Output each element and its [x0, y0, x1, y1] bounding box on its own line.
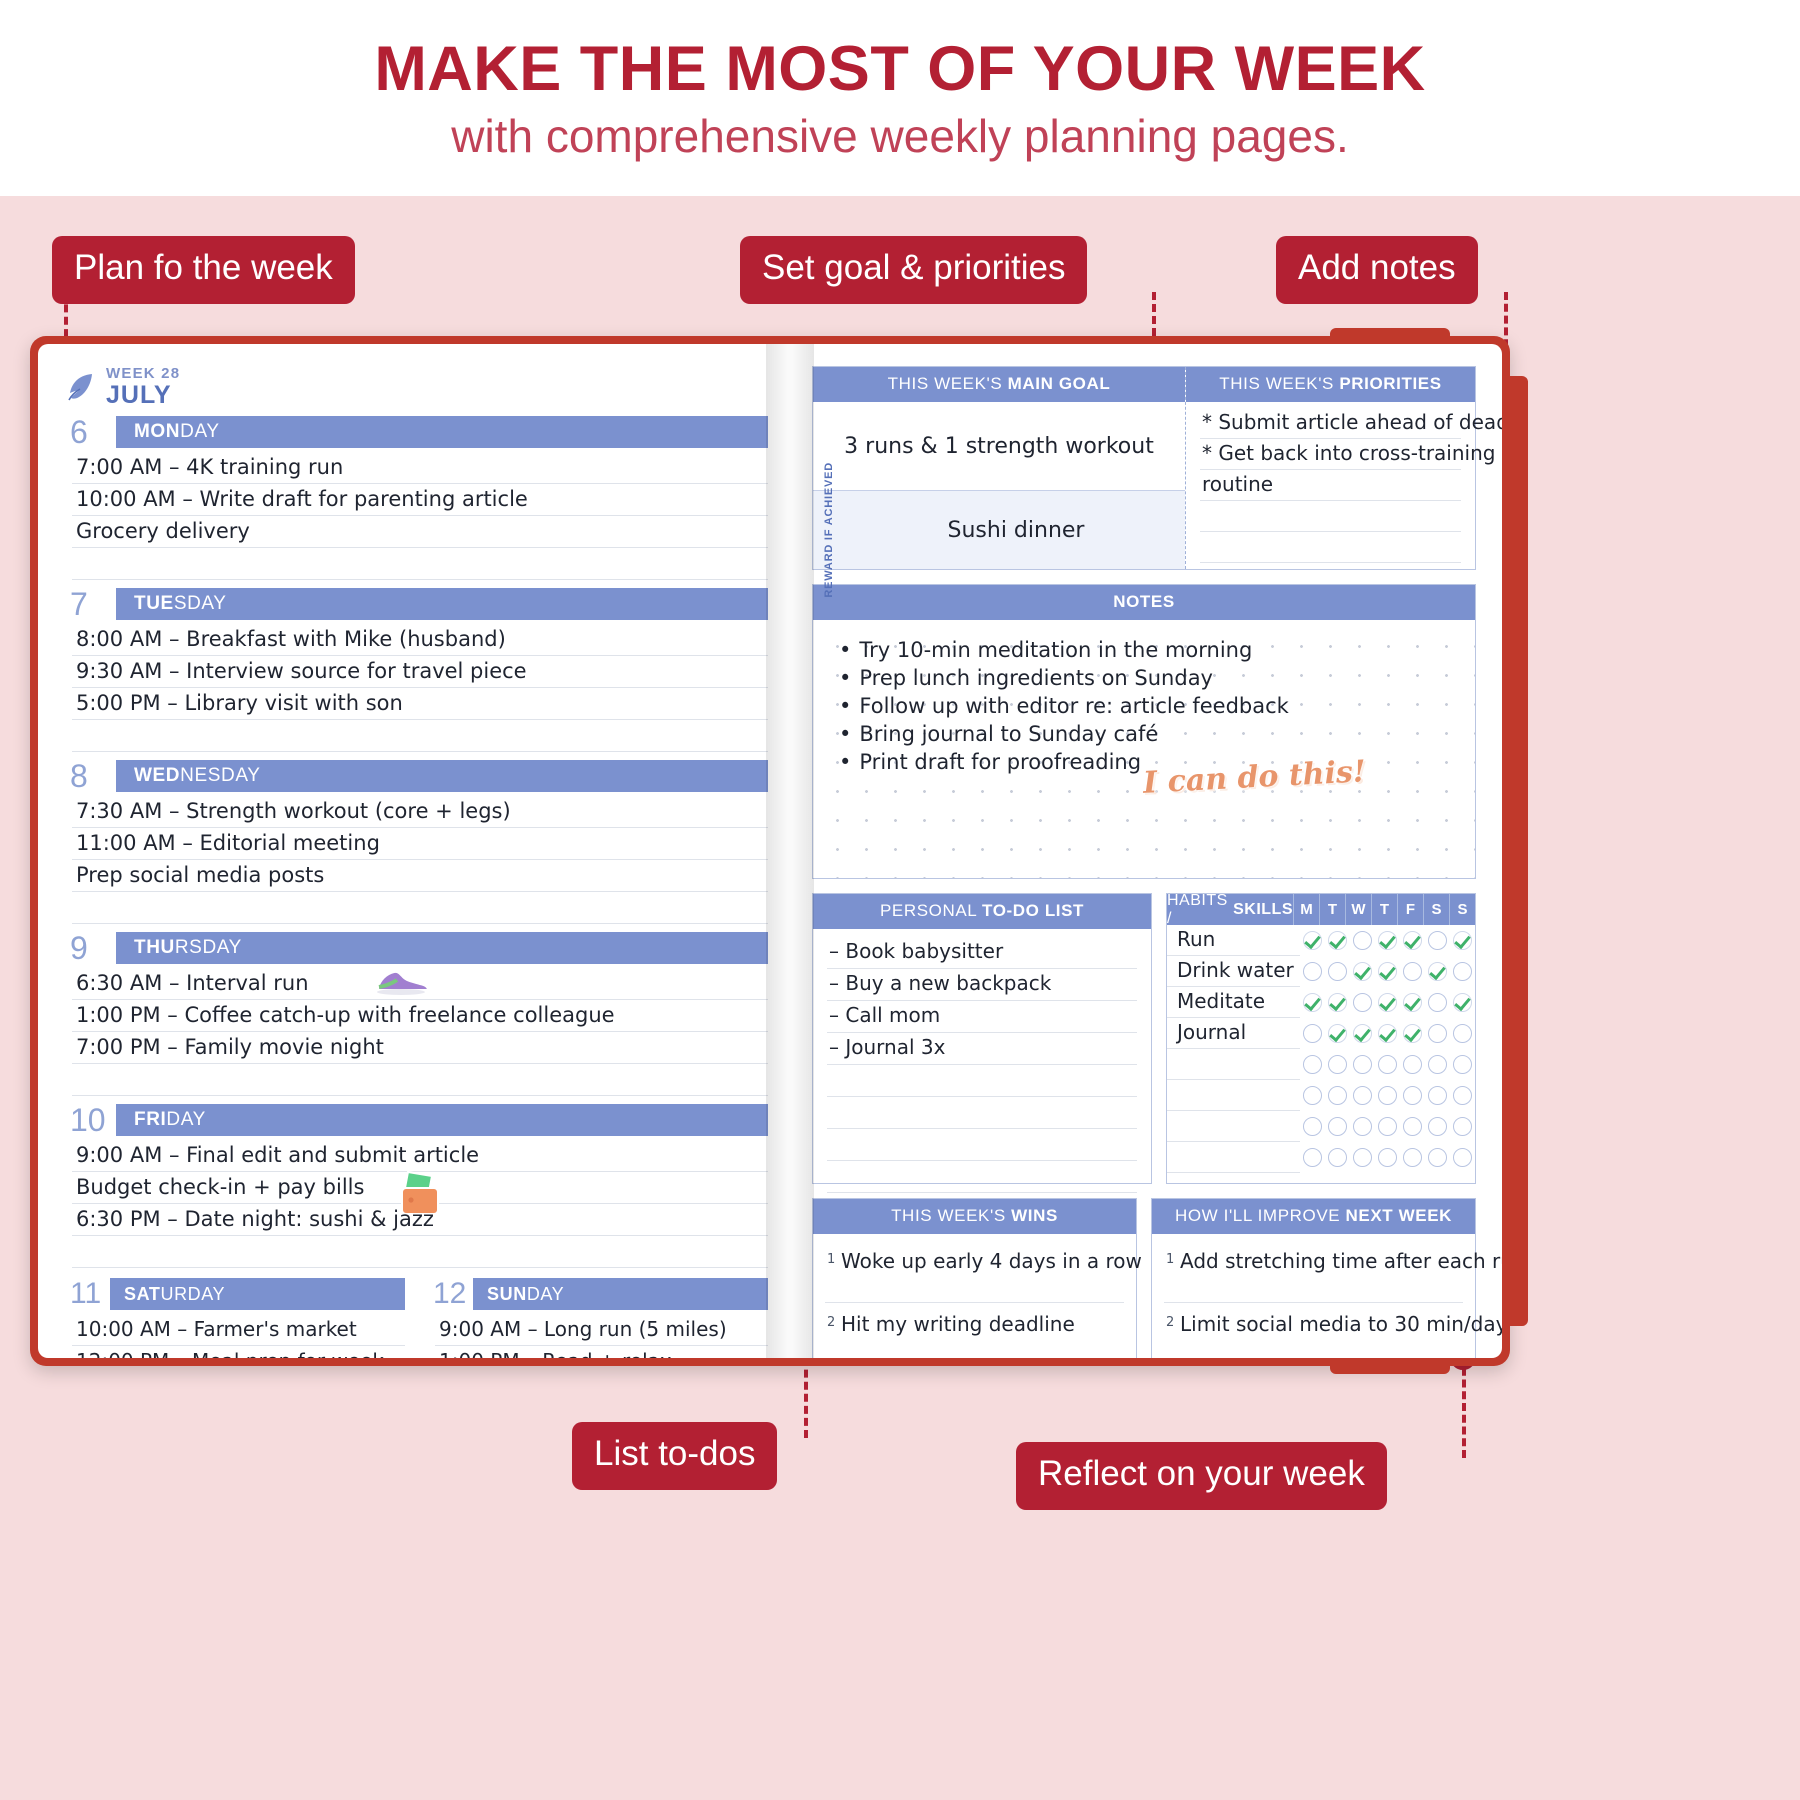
win-line[interactable]: 1Woke up early 4 days in a row — [825, 1240, 1124, 1303]
empty-circle-icon — [1403, 962, 1422, 981]
empty-circle-icon — [1378, 1117, 1397, 1136]
day-entry-line[interactable]: 1:00 PM – Read + relax — [435, 1346, 768, 1358]
day-number: 8 — [66, 760, 116, 792]
habit-check-cell[interactable] — [1300, 925, 1325, 956]
day-entry-text: 1:00 PM – Read + relax — [439, 1349, 672, 1358]
day-entry-text: Prep social media posts — [76, 863, 324, 887]
planner-stage: Plan fo the week Set goal & priorities A… — [0, 196, 1800, 1800]
callout-list-todos: List to-dos — [572, 1422, 777, 1490]
habit-check-cell[interactable] — [1400, 956, 1425, 987]
running-shoe-sticker — [372, 966, 430, 1001]
empty-circle-icon — [1328, 1148, 1347, 1167]
day-block-sat: 11SATURDAY10:00 AM – Farmer's market12:0… — [66, 1278, 405, 1358]
day-entry-line[interactable]: 9:00 AM – Final edit and submit article — [72, 1140, 768, 1172]
day-entry-line[interactable]: 7:00 AM – 4K training run — [72, 452, 768, 484]
day-entry-line[interactable]: 7:30 AM – Strength workout (core + legs) — [72, 796, 768, 828]
todo-habits-row: PERSONAL TO-DO LIST – Book babysitter– B… — [812, 893, 1476, 1184]
habit-name[interactable]: Journal — [1167, 1018, 1300, 1049]
habit-check-cell[interactable] — [1425, 987, 1450, 1018]
day-lines: 10:00 AM – Farmer's market12:00 PM – Mea… — [66, 1314, 405, 1358]
day-name-bar: THURSDAY — [116, 932, 768, 964]
reward-label: REWARD IF ACHIEVED — [813, 491, 847, 569]
check-icon — [1403, 993, 1422, 1012]
habit-check-cell[interactable] — [1400, 987, 1425, 1018]
check-icon — [1353, 1024, 1372, 1043]
day-rest: NESDAY — [180, 765, 260, 787]
day-header: 12SUNDAY — [429, 1278, 768, 1310]
empty-circle-icon — [1428, 993, 1447, 1012]
wins-list[interactable]: 1Woke up early 4 days in a row2Hit my wr… — [813, 1234, 1136, 1358]
priorities-column: THIS WEEK'S PRIORITIES * Submit article … — [1185, 367, 1475, 569]
habit-check-cell[interactable] — [1325, 1111, 1350, 1142]
priority-text: routine — [1202, 472, 1273, 496]
habit-check-cell[interactable] — [1300, 1142, 1325, 1173]
todo-header-light: PERSONAL — [880, 901, 982, 920]
day-lines: 7:30 AM – Strength workout (core + legs)… — [66, 796, 768, 924]
header-banner: MAKE THE MOST OF YOUR WEEK with comprehe… — [0, 0, 1800, 196]
habit-check-cell[interactable] — [1350, 1018, 1375, 1049]
empty-circle-icon — [1353, 993, 1372, 1012]
month-label: JULY — [106, 383, 180, 408]
habit-check-cell[interactable] — [1450, 1018, 1475, 1049]
win-number: 1 — [827, 1252, 835, 1267]
day-lines: 8:00 AM – Breakfast with Mike (husband)9… — [66, 624, 768, 752]
day-entry-text: 1:00 PM – Coffee catch-up with freelance… — [76, 1003, 615, 1027]
check-icon — [1328, 1024, 1347, 1043]
habit-check-cell[interactable] — [1350, 956, 1375, 987]
habit-check-cell[interactable] — [1300, 1111, 1325, 1142]
empty-circle-icon — [1403, 1117, 1422, 1136]
improve-list[interactable]: 1Add stretching time after each run2Limi… — [1152, 1234, 1475, 1358]
todo-text: – Buy a new backpack — [829, 971, 1051, 995]
goal-column: THIS WEEK'S MAIN GOAL 3 runs & 1 strengt… — [813, 367, 1185, 569]
todo-text: – Call mom — [829, 1003, 940, 1027]
day-entry-line[interactable]: 10:00 AM – Write draft for parenting art… — [72, 484, 768, 516]
empty-circle-icon — [1328, 962, 1347, 981]
habit-check-cell[interactable] — [1400, 1111, 1425, 1142]
empty-circle-icon — [1353, 1086, 1372, 1105]
reward-section: REWARD IF ACHIEVED Sushi dinner — [813, 490, 1185, 569]
habit-check-cell[interactable] — [1450, 1142, 1475, 1173]
day-block-mon: 6MONDAY7:00 AM – 4K training run10:00 AM… — [66, 416, 768, 580]
habit-check-cell[interactable] — [1300, 1018, 1325, 1049]
day-entry-text: Budget check-in + pay bills — [76, 1175, 364, 1199]
habit-day-3: T — [1371, 894, 1397, 925]
todo-header: PERSONAL TO-DO LIST — [813, 894, 1151, 929]
habit-day-4: F — [1397, 894, 1423, 925]
habit-check-cell[interactable] — [1400, 1018, 1425, 1049]
day-entry-text: 9:00 AM – Long run (5 miles) — [439, 1317, 727, 1341]
day-block-sun: 12SUNDAY9:00 AM – Long run (5 miles)1:00… — [429, 1278, 768, 1358]
day-abbr: THU — [134, 937, 175, 959]
habit-check-cell[interactable] — [1325, 1142, 1350, 1173]
empty-circle-icon — [1453, 1024, 1472, 1043]
day-header: 9THURSDAY — [66, 932, 768, 964]
planner-right-page: THIS WEEK'S MAIN GOAL 3 runs & 1 strengt… — [790, 344, 1502, 1358]
habit-name[interactable]: Run — [1167, 925, 1300, 956]
habit-check-cell[interactable] — [1300, 987, 1325, 1018]
day-entry-line[interactable]: 8:00 AM – Breakfast with Mike (husband) — [72, 624, 768, 656]
todo-item[interactable]: – Buy a new backpack — [827, 969, 1137, 1001]
priorities-header-light: THIS WEEK'S — [1219, 374, 1339, 393]
check-icon — [1403, 1024, 1422, 1043]
day-header: 10FRIDAY — [66, 1104, 768, 1136]
day-entry-text: 11:00 AM – Editorial meeting — [76, 831, 380, 855]
empty-circle-icon — [1453, 1117, 1472, 1136]
priorities-header-bold: PRIORITIES — [1339, 374, 1441, 393]
notes-list: Try 10-min meditation in the morningPrep… — [839, 636, 1289, 776]
reflection-row: THIS WEEK'S WINS 1Woke up early 4 days i… — [812, 1198, 1476, 1358]
day-entry-line[interactable] — [72, 1236, 768, 1268]
day-block-tue: 7TUESDAY8:00 AM – Breakfast with Mike (h… — [66, 588, 768, 752]
day-entry-line[interactable]: 7:00 PM – Family movie night — [72, 1032, 768, 1064]
habit-day-2: W — [1345, 894, 1371, 925]
day-entry-line[interactable]: 5:00 PM – Library visit with son — [72, 688, 768, 720]
habit-check-cell[interactable] — [1375, 925, 1400, 956]
win-line[interactable]: 2Hit my writing deadline — [825, 1303, 1124, 1358]
improve-number: 2 — [1166, 1315, 1174, 1330]
habit-check-cell[interactable] — [1325, 987, 1350, 1018]
check-icon — [1403, 931, 1422, 950]
habit-name[interactable]: Drink water — [1167, 956, 1300, 987]
day-entry-line[interactable] — [72, 892, 768, 924]
habit-row — [1167, 1049, 1475, 1080]
empty-circle-icon — [1303, 1024, 1322, 1043]
habits-header: HABITS / SKILLS MTWTFSS — [1167, 894, 1475, 925]
win-text: Hit my writing deadline — [841, 1312, 1075, 1336]
check-icon — [1378, 931, 1397, 950]
day-header: 8WEDNESDAY — [66, 760, 768, 792]
day-block-fri: 10FRIDAY9:00 AM – Final edit and submit … — [66, 1104, 768, 1268]
habit-check-cell[interactable] — [1425, 1080, 1450, 1111]
win-number: 2 — [827, 1315, 835, 1330]
day-rest: URDAY — [160, 1284, 225, 1305]
habit-check-cell[interactable] — [1375, 1111, 1400, 1142]
habit-check-cell[interactable] — [1325, 1080, 1350, 1111]
habit-check-cell[interactable] — [1300, 1080, 1325, 1111]
priority-line[interactable]: * Submit article ahead of deadline — [1200, 408, 1461, 439]
habit-check-cell[interactable] — [1325, 1018, 1350, 1049]
main-goal-header-bold: MAIN GOAL — [1008, 374, 1111, 393]
callout-add-notes: Add notes — [1276, 236, 1478, 304]
habit-check-cell[interactable] — [1325, 956, 1350, 987]
day-entry-text: 10:00 AM – Farmer's market — [76, 1317, 357, 1341]
day-rest: SDAY — [174, 593, 227, 615]
empty-circle-icon — [1403, 1086, 1422, 1105]
check-icon — [1303, 993, 1322, 1012]
day-name-bar: FRIDAY — [116, 1104, 768, 1136]
habit-check-cell[interactable] — [1375, 1080, 1400, 1111]
day-entry-text: 6:30 AM – Interval run — [76, 971, 309, 995]
habit-check-cell[interactable] — [1350, 1142, 1375, 1173]
todo-item[interactable]: – Book babysitter — [827, 937, 1137, 969]
day-number: 10 — [66, 1104, 116, 1136]
improve-line[interactable]: 1Add stretching time after each run — [1164, 1240, 1463, 1303]
habit-check-cell[interactable] — [1375, 1018, 1400, 1049]
habit-check-cell[interactable] — [1450, 987, 1475, 1018]
empty-circle-icon — [1353, 1055, 1372, 1074]
habit-check-cell[interactable] — [1450, 1080, 1475, 1111]
day-entry-line[interactable]: 11:00 AM – Editorial meeting — [72, 828, 768, 860]
habits-title-bold: SKILLS — [1233, 901, 1293, 919]
empty-circle-icon — [1378, 1055, 1397, 1074]
day-entry-text: 10:00 AM – Write draft for parenting art… — [76, 487, 528, 511]
notes-body[interactable]: Try 10-min meditation in the morningPrep… — [813, 620, 1475, 878]
habit-name[interactable] — [1167, 1111, 1300, 1142]
habit-check-cell[interactable] — [1350, 1080, 1375, 1111]
habit-check-cell[interactable] — [1400, 1142, 1425, 1173]
priorities-lines[interactable]: * Submit article ahead of deadline* Get … — [1186, 402, 1475, 563]
habit-check-cell[interactable] — [1450, 1111, 1475, 1142]
habit-check-cell[interactable] — [1375, 1142, 1400, 1173]
day-name-bar: TUESDAY — [116, 588, 768, 620]
notes-panel: NOTES Try 10-min meditation in the morni… — [812, 584, 1476, 879]
day-rest: DAY — [527, 1284, 564, 1305]
habit-check-cell[interactable] — [1325, 925, 1350, 956]
main-goal-header-light: THIS WEEK'S — [888, 374, 1008, 393]
check-icon — [1378, 962, 1397, 981]
habit-name[interactable] — [1167, 1049, 1300, 1080]
habit-check-cell[interactable] — [1350, 1111, 1375, 1142]
empty-circle-icon — [1428, 931, 1447, 950]
habits-title-light: HABITS / — [1167, 892, 1233, 928]
habit-row: Drink water — [1167, 956, 1475, 987]
day-entry-text: 5:00 PM – Library visit with son — [76, 691, 403, 715]
habits-grid[interactable]: RunDrink waterMeditateJournal — [1167, 925, 1475, 1179]
empty-circle-icon — [1303, 1148, 1322, 1167]
wins-header-bold: WINS — [1011, 1206, 1058, 1225]
priority-line[interactable] — [1200, 501, 1461, 532]
connector-reflect — [1462, 1356, 1466, 1458]
empty-circle-icon — [1328, 1055, 1347, 1074]
day-rest: DAY — [180, 421, 219, 443]
day-abbr: MON — [134, 421, 180, 443]
habit-row: Journal — [1167, 1018, 1475, 1049]
day-entry-line[interactable]: Grocery delivery — [72, 516, 768, 548]
todo-item[interactable] — [827, 1065, 1137, 1097]
goal-priorities-header-row: THIS WEEK'S MAIN GOAL 3 runs & 1 strengt… — [813, 367, 1475, 569]
todo-header-bold: TO-DO LIST — [982, 901, 1084, 920]
note-item[interactable]: Follow up with editor re: article feedba… — [839, 692, 1289, 720]
day-entry-line[interactable]: 6:30 AM – Interval run — [72, 968, 768, 1000]
wins-header: THIS WEEK'S WINS — [813, 1199, 1136, 1234]
notes-header-text: NOTES — [1113, 592, 1175, 611]
day-number: 11 — [66, 1278, 110, 1310]
habit-row: Run — [1167, 925, 1475, 956]
note-item[interactable]: Try 10-min meditation in the morning — [839, 636, 1289, 664]
habit-check-cell[interactable] — [1375, 987, 1400, 1018]
habit-check-cell[interactable] — [1450, 925, 1475, 956]
weekend-list: 11SATURDAY10:00 AM – Farmer's market12:0… — [66, 1278, 768, 1358]
wins-panel: THIS WEEK'S WINS 1Woke up early 4 days i… — [812, 1198, 1137, 1358]
habit-check-cell[interactable] — [1450, 1049, 1475, 1080]
weekday-list: 6MONDAY7:00 AM – 4K training run10:00 AM… — [66, 416, 768, 1268]
day-entry-line[interactable]: 1:00 PM – Coffee catch-up with freelance… — [72, 1000, 768, 1032]
todo-item[interactable] — [827, 1097, 1137, 1129]
day-lines: 6:30 AM – Interval run1:00 PM – Coffee c… — [66, 968, 768, 1096]
check-icon — [1328, 993, 1347, 1012]
day-lines: 9:00 AM – Long run (5 miles)1:00 PM – Re… — [429, 1314, 768, 1358]
habits-panel: HABITS / SKILLS MTWTFSS RunDrink waterMe… — [1166, 893, 1476, 1184]
day-number: 12 — [429, 1278, 473, 1310]
habit-name-text: Run — [1177, 927, 1215, 951]
wins-header-light: THIS WEEK'S — [891, 1206, 1011, 1225]
priority-text: * Get back into cross-training — [1202, 441, 1495, 465]
main-goal-value[interactable]: 3 runs & 1 strength workout — [813, 402, 1185, 490]
day-block-thu: 9THURSDAY6:30 AM – Interval run1:00 PM –… — [66, 932, 768, 1096]
day-entry-line[interactable]: 10:00 AM – Farmer's market — [72, 1314, 405, 1346]
habit-day-5: S — [1423, 894, 1449, 925]
habit-name[interactable] — [1167, 1080, 1300, 1111]
empty-circle-icon — [1303, 1055, 1322, 1074]
note-item[interactable]: Prep lunch ingredients on Sunday — [839, 664, 1289, 692]
planner-brand: WEEK 28 JULY — [66, 366, 768, 408]
todo-list[interactable]: – Book babysitter– Buy a new backpack– C… — [813, 929, 1151, 1183]
habit-check-cell[interactable] — [1425, 1111, 1450, 1142]
feather-logo-icon — [66, 371, 96, 403]
main-goal-header: THIS WEEK'S MAIN GOAL — [813, 367, 1185, 402]
empty-circle-icon — [1378, 1086, 1397, 1105]
day-name-bar: WEDNESDAY — [116, 760, 768, 792]
day-entry-line[interactable]: 9:00 AM – Long run (5 miles) — [435, 1314, 768, 1346]
day-entry-line[interactable] — [72, 720, 768, 752]
day-abbr: SAT — [124, 1284, 160, 1305]
reward-value[interactable]: Sushi dinner — [847, 491, 1185, 569]
day-header: 7TUESDAY — [66, 588, 768, 620]
habit-check-cell[interactable] — [1300, 1049, 1325, 1080]
banner-subtitle: with comprehensive weekly planning pages… — [451, 112, 1349, 160]
day-abbr: FRI — [134, 1109, 166, 1131]
habit-check-cell[interactable] — [1425, 1018, 1450, 1049]
day-abbr: TUE — [134, 593, 174, 615]
empty-circle-icon — [1453, 1148, 1472, 1167]
day-lines: 9:00 AM – Final edit and submit articleB… — [66, 1140, 768, 1268]
goal-priorities-panel: THIS WEEK'S MAIN GOAL 3 runs & 1 strengt… — [812, 366, 1476, 570]
day-header: 6MONDAY — [66, 416, 768, 448]
note-item[interactable]: Bring journal to Sunday café — [839, 720, 1289, 748]
habit-check-cell[interactable] — [1375, 956, 1400, 987]
day-entry-line[interactable]: 6:30 PM – Date night: sushi & jazz — [72, 1204, 768, 1236]
improve-header-light: HOW I'LL IMPROVE — [1175, 1206, 1346, 1225]
day-number: 6 — [66, 416, 116, 448]
day-lines: 7:00 AM – 4K training run10:00 AM – Writ… — [66, 452, 768, 580]
day-name-bar: SATURDAY — [110, 1278, 405, 1310]
day-rest: DAY — [166, 1109, 205, 1131]
habit-row — [1167, 1142, 1475, 1173]
day-entry-text: 6:30 PM – Date night: sushi & jazz — [76, 1207, 434, 1231]
habit-check-cell[interactable] — [1425, 1142, 1450, 1173]
improve-text: Add stretching time after each run — [1180, 1249, 1502, 1273]
habit-name[interactable]: Meditate — [1167, 987, 1300, 1018]
check-icon — [1378, 1024, 1397, 1043]
check-icon — [1303, 931, 1322, 950]
empty-circle-icon — [1303, 962, 1322, 981]
check-icon — [1428, 962, 1447, 981]
day-entry-line[interactable] — [72, 1064, 768, 1096]
empty-circle-icon — [1403, 1148, 1422, 1167]
empty-circle-icon — [1353, 1117, 1372, 1136]
callout-plan-week: Plan fo the week — [52, 236, 355, 304]
week-label: WEEK 28 — [106, 366, 180, 381]
empty-circle-icon — [1353, 931, 1372, 950]
todo-item[interactable] — [827, 1161, 1137, 1193]
habit-name[interactable] — [1167, 1142, 1300, 1173]
day-entry-text: 12:00 PM – Meal prep for week — [76, 1349, 384, 1358]
habit-name-text: Meditate — [1177, 989, 1265, 1013]
habit-check-cell[interactable] — [1400, 1049, 1425, 1080]
priority-line[interactable] — [1200, 532, 1461, 563]
habit-check-cell[interactable] — [1450, 956, 1475, 987]
habit-check-cell[interactable] — [1300, 956, 1325, 987]
day-entry-line[interactable]: Prep social media posts — [72, 860, 768, 892]
planner-spread: WEEK 28 JULY 6MONDAY7:00 AM – 4K trainin… — [38, 344, 1502, 1358]
habit-day-6: S — [1449, 894, 1475, 925]
check-icon — [1453, 993, 1472, 1012]
empty-circle-icon — [1328, 1117, 1347, 1136]
habit-check-cell[interactable] — [1350, 1049, 1375, 1080]
habit-check-cell[interactable] — [1425, 956, 1450, 987]
day-abbr: WED — [134, 765, 180, 787]
improve-text: Limit social media to 30 min/day — [1180, 1312, 1502, 1336]
day-entry-line[interactable]: Budget check-in + pay bills — [72, 1172, 768, 1204]
check-icon — [1328, 931, 1347, 950]
day-entry-text: 7:30 AM – Strength workout (core + legs) — [76, 799, 511, 823]
improve-line[interactable]: 2Limit social media to 30 min/day — [1164, 1303, 1463, 1358]
priority-text: * Submit article ahead of deadline — [1202, 410, 1502, 434]
habit-check-cell[interactable] — [1400, 925, 1425, 956]
empty-circle-icon — [1428, 1148, 1447, 1167]
empty-circle-icon — [1303, 1086, 1322, 1105]
day-entry-line[interactable] — [72, 548, 768, 580]
priority-line[interactable]: * Get back into cross-training — [1200, 439, 1461, 470]
day-number: 7 — [66, 588, 116, 620]
todo-item[interactable]: – Journal 3x — [827, 1033, 1137, 1065]
empty-circle-icon — [1303, 1117, 1322, 1136]
day-block-wed: 8WEDNESDAY7:30 AM – Strength workout (co… — [66, 760, 768, 924]
habit-check-cell[interactable] — [1400, 1080, 1425, 1111]
day-header: 11SATURDAY — [66, 1278, 405, 1310]
priority-line[interactable]: routine — [1200, 470, 1461, 501]
callout-reflect: Reflect on your week — [1016, 1442, 1387, 1510]
habit-check-cell[interactable] — [1425, 925, 1450, 956]
day-entry-text: 9:30 AM – Interview source for travel pi… — [76, 659, 527, 683]
habit-check-cell[interactable] — [1375, 1049, 1400, 1080]
todo-item[interactable]: – Call mom — [827, 1001, 1137, 1033]
banner-title: MAKE THE MOST OF YOUR WEEK — [374, 36, 1425, 102]
habit-check-cell[interactable] — [1425, 1049, 1450, 1080]
habit-check-cell[interactable] — [1325, 1049, 1350, 1080]
day-entry-line[interactable]: 12:00 PM – Meal prep for week — [72, 1346, 405, 1358]
improve-number: 1 — [1166, 1252, 1174, 1267]
empty-circle-icon — [1353, 1148, 1372, 1167]
empty-circle-icon — [1453, 1055, 1472, 1074]
planner-left-page: WEEK 28 JULY 6MONDAY7:00 AM – 4K trainin… — [38, 344, 790, 1358]
check-icon — [1353, 962, 1372, 981]
notes-header: NOTES — [813, 585, 1475, 620]
improve-header-bold: NEXT WEEK — [1346, 1206, 1452, 1225]
habit-check-cell[interactable] — [1350, 987, 1375, 1018]
habit-row — [1167, 1111, 1475, 1142]
todo-panel: PERSONAL TO-DO LIST – Book babysitter– B… — [812, 893, 1152, 1184]
brand-text: WEEK 28 JULY — [106, 366, 180, 408]
day-entry-text: 9:00 AM – Final edit and submit article — [76, 1143, 479, 1167]
todo-item[interactable] — [827, 1129, 1137, 1161]
day-entry-line[interactable]: 9:30 AM – Interview source for travel pi… — [72, 656, 768, 688]
callout-set-goal: Set goal & priorities — [740, 236, 1087, 304]
improve-header: HOW I'LL IMPROVE NEXT WEEK — [1152, 1199, 1475, 1234]
habit-check-cell[interactable] — [1350, 925, 1375, 956]
todo-text: – Journal 3x — [829, 1035, 945, 1059]
